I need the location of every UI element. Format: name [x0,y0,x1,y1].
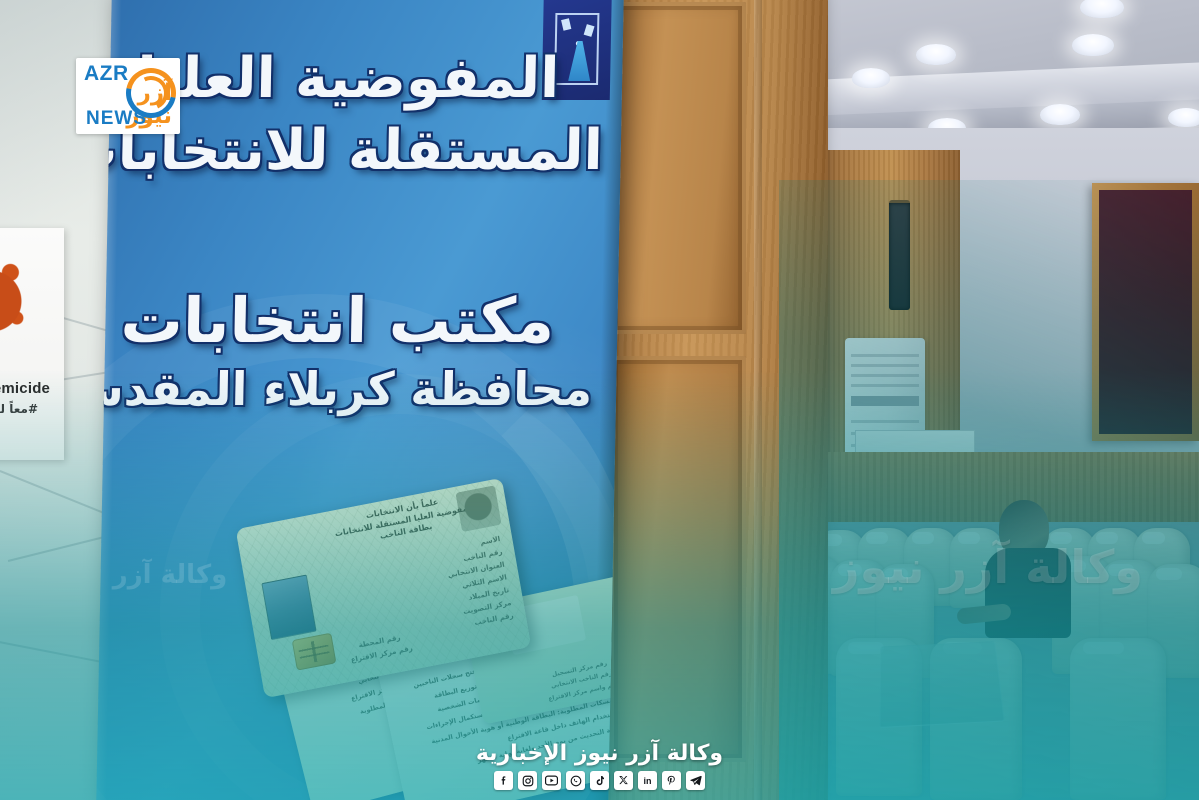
smart-card-chip [292,633,337,671]
card-field-labels-2: رقم المحطةرقم مركز الاقتراع [331,626,430,669]
end-femicide-poster: #EndFemicide #معاً لننهي [0,228,64,460]
banner-subhead-line-2: محافظة كربلاء المقدسة [96,362,593,416]
ceiling-downlight [1040,104,1080,125]
poster-hashtag-ar: #معاً لننهي [0,402,38,416]
ceiling-downlight [852,68,890,88]
card-field-labels: الاسمرقم الناخبالعنوان الانتخابيالاسم ال… [383,533,515,644]
card-portrait-photo [261,574,316,640]
auditorium-seat [1070,638,1166,800]
door-panel-lower [610,356,746,762]
ceiling-downlight [1072,34,1114,56]
banner-subhead-line-1: مكتب انتخابات [96,284,594,357]
seated-attendee [985,500,1071,635]
poster-hashtag-en: #EndFemicide [0,380,38,397]
wall-speaker-icon [889,200,910,310]
ceiling-downlight [916,44,956,65]
news-photo-stage: #EndFemicide #معاً لننهي المفوضية العليا… [0,0,1199,800]
laptop [879,641,1004,728]
door-panel-upper [610,2,746,334]
framed-picture [1092,183,1199,441]
ceiling-downlight [1080,0,1124,18]
attendee-body [985,548,1071,638]
wooden-door[interactable] [596,0,828,800]
iraq-eagle-emblem-icon [455,485,501,532]
azr-news-logo[interactable]: AZR آزر نيوز NEWS [76,58,180,134]
door-stile [754,0,762,800]
paint-splatter-graphic [0,246,32,366]
ceiling-downlight [1168,108,1199,127]
